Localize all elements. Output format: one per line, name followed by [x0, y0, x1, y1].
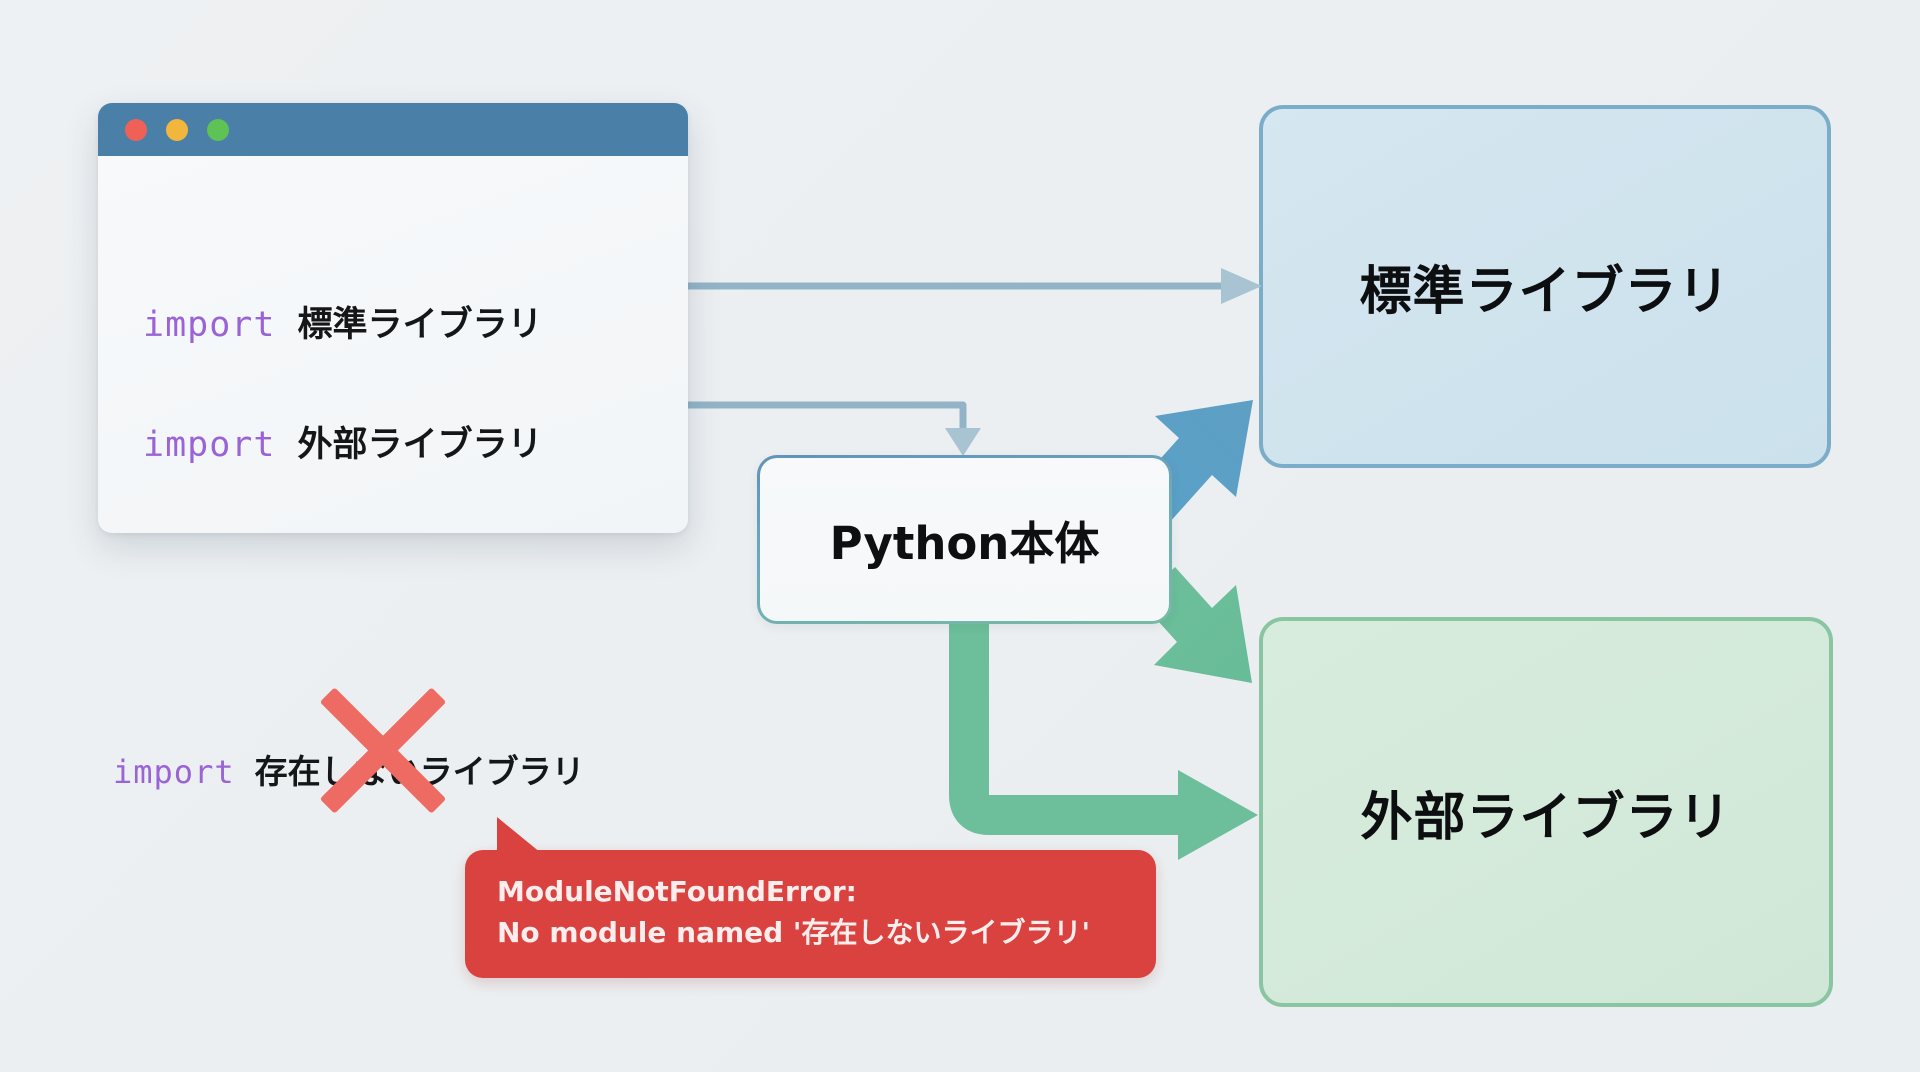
import-std-to-std-library-arrow — [640, 268, 1262, 304]
import-ext-to-python-core-arrow — [640, 405, 981, 456]
standard-library-label: 標準ライブラリ — [1359, 249, 1730, 324]
error-message: No module named '存在しないライブラリ' — [497, 913, 1126, 954]
standard-library-box: 標準ライブラリ — [1259, 105, 1831, 468]
external-library-label: 外部ライブラリ — [1360, 775, 1731, 850]
import-keyword: import — [143, 305, 275, 345]
code-window-titlebar — [98, 103, 688, 156]
close-dot[interactable] — [125, 119, 147, 141]
code-window: import 標準ライブラリ import 外部ライブラリ — [98, 103, 688, 533]
error-callout: ModuleNotFoundError: No module named '存在… — [465, 850, 1156, 978]
python-core-box: Python本体 — [757, 455, 1172, 624]
import-keyword: import — [113, 753, 235, 791]
external-library-box: 外部ライブラリ — [1259, 617, 1833, 1007]
minimize-dot[interactable] — [166, 119, 188, 141]
cross-mark-icon — [318, 685, 448, 815]
code-line-import-external: import 外部ライブラリ — [143, 416, 542, 467]
error-title: ModuleNotFoundError: — [497, 872, 1126, 913]
maximize-dot[interactable] — [207, 119, 229, 141]
python-core-to-ext-library-elbow-arrow — [969, 618, 1258, 860]
import-module-name: 外部ライブラリ — [297, 425, 542, 465]
import-keyword: import — [143, 425, 275, 465]
code-line-import-standard: import 標準ライブラリ — [143, 296, 542, 347]
import-module-name: 標準ライブラリ — [297, 305, 542, 345]
python-core-label: Python本体 — [830, 507, 1100, 572]
code-window-body: import 標準ライブラリ import 外部ライブラリ — [98, 156, 688, 533]
diagram-canvas: import 標準ライブラリ import 外部ライブラリ import 存在し… — [0, 0, 1920, 1072]
callout-tail — [497, 817, 541, 853]
